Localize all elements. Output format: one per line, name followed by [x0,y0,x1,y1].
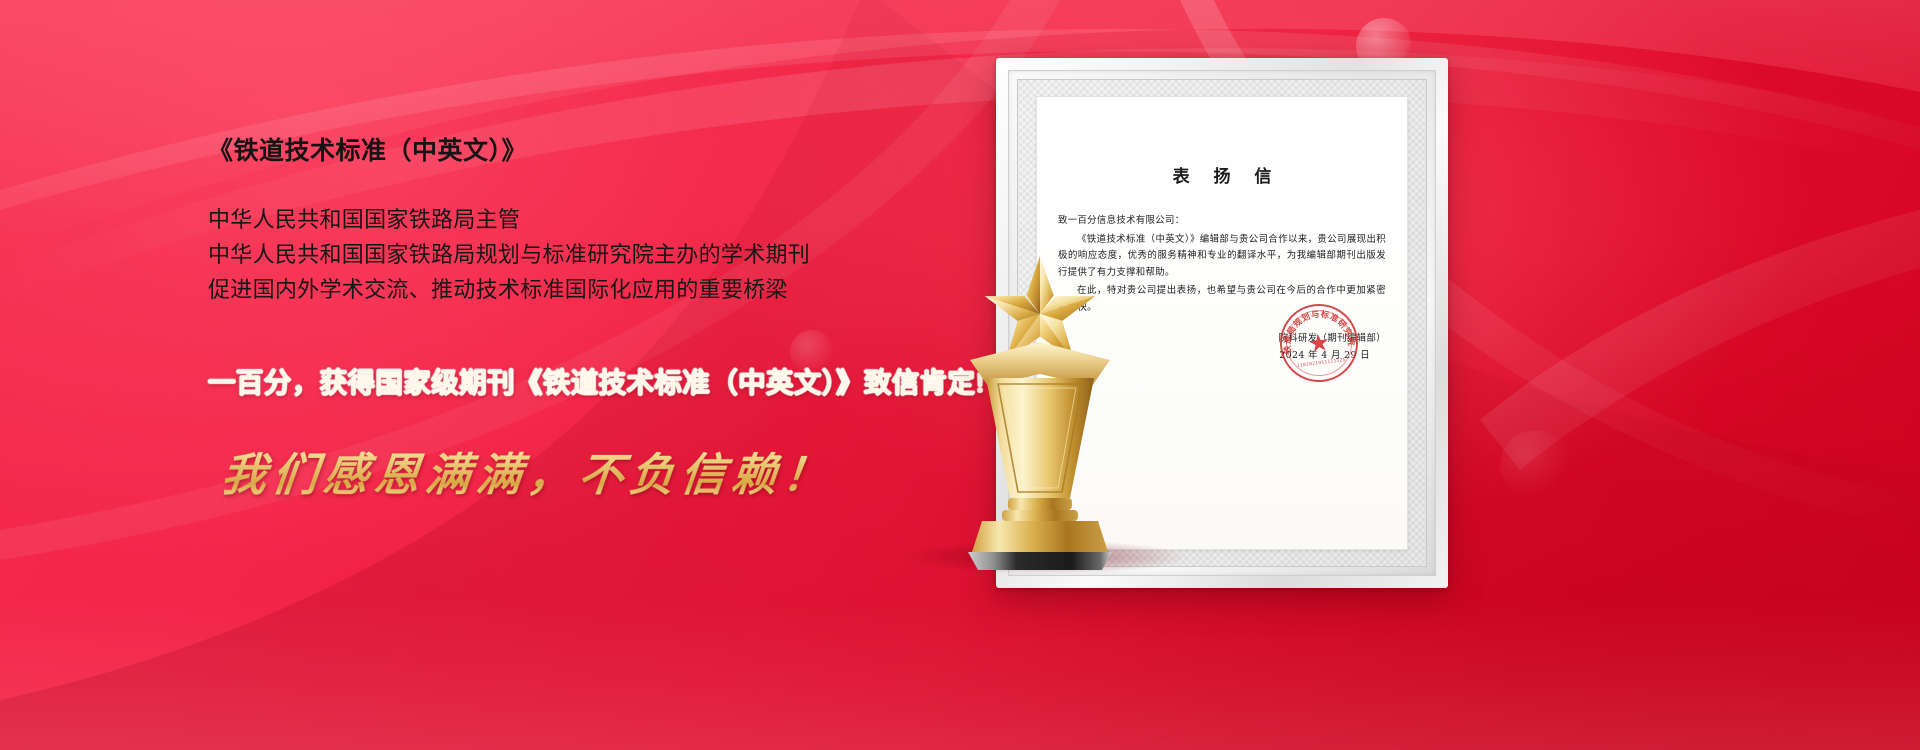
banner-stage: 《铁道技术标准（中英文）》 中华人民共和国国家铁路局主管 中华人民共和国国家铁路… [0,0,1920,750]
description-line: 中华人民共和国国家铁路局规划与标准研究院主办的学术期刊 [208,237,988,272]
seal-arc-text: 铁道局规划与标准研究院 [1278,305,1357,355]
certificate-salutation: 致一百分信息技术有限公司： [1058,213,1386,230]
star-trophy-icon [920,252,1160,572]
description-line: 中华人民共和国国家铁路局主管 [208,202,988,237]
official-seal: 铁道局规划与标准研究院 ★ 1101021911111125 [1276,300,1363,387]
bokeh-circle [1500,430,1570,500]
description-line: 促进国内外学术交流、推动技术标准国际化应用的重要桥梁 [208,272,988,307]
journal-title: 《铁道技术标准（中英文）》 [208,135,988,168]
award-headline: 一百分，获得国家级期刊《铁道技术标准（中英文）》致信肯定! [208,360,988,400]
certificate-title: 表 扬 信 [1036,162,1408,187]
svg-text:铁道局规划与标准研究院: 铁道局规划与标准研究院 [1278,305,1357,355]
calligraphy-slogan: 我们感恩满满，不负信赖！ [219,438,992,503]
floor-glow [0,600,1920,750]
journal-description-list: 中华人民共和国国家铁路局主管 中华人民共和国国家铁路局规划与标准研究院主办的学术… [208,202,988,307]
banner-copy: 《铁道技术标准（中英文）》 中华人民共和国国家铁路局主管 中华人民共和国国家铁路… [208,135,988,503]
